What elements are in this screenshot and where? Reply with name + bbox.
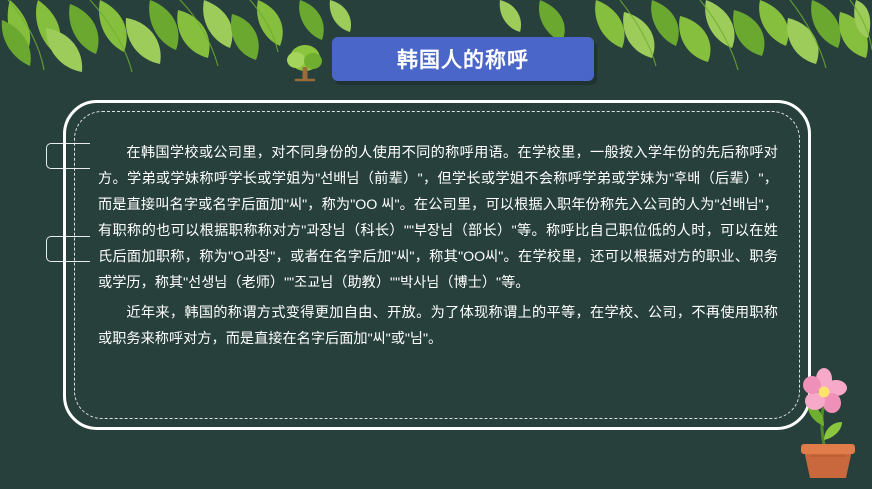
page-title: 韩国人的称呼 [397, 44, 529, 74]
panel-tab-top [46, 143, 90, 169]
slide-title-bar: 韩国人的称呼 [332, 37, 594, 81]
body-text: 在韩国学校或公司里，对不同身份的人使用不同的称呼用语。在学校里，一般按入学年份的… [98, 140, 778, 356]
potted-flower-icon [790, 352, 868, 480]
paragraph-1: 在韩国学校或公司里，对不同身份的人使用不同的称呼用语。在学校里，一般按入学年份的… [98, 140, 778, 296]
panel-tab-bottom [46, 236, 90, 262]
slide-canvas: 韩国人的称呼 在韩国学校或公司里，对不同身份的人使用不同的称呼用语。在学校里，一… [0, 0, 872, 489]
paragraph-2: 近年来，韩国的称谓方式变得更加自由、开放。为了体现称谓上的平等，在学校、公司，不… [98, 300, 778, 352]
tree-icon [282, 40, 328, 86]
